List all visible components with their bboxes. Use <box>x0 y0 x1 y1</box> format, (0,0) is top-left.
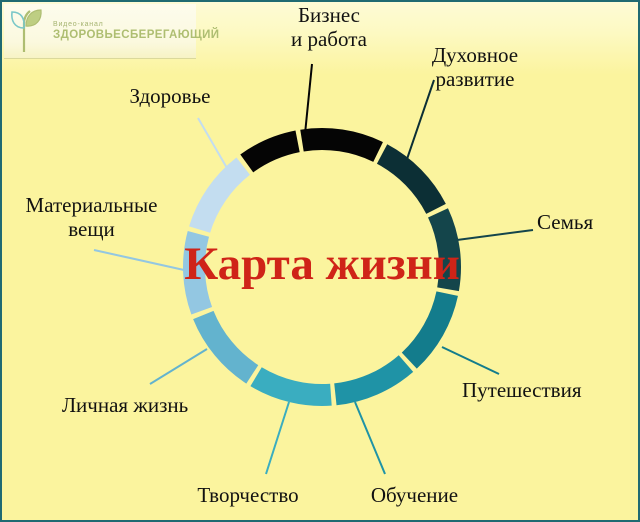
ring-segment-health[interactable] <box>189 157 250 232</box>
label-spiritual-development: Духовное развитие <box>400 44 550 91</box>
label-health: Здоровье <box>95 85 245 109</box>
leader-line-creative <box>266 402 289 474</box>
ring-segment-learning[interactable] <box>334 355 413 405</box>
label-learning: Обучение <box>337 484 492 508</box>
label-personal-life: Личная жизнь <box>30 394 220 418</box>
leaf-sprout-icon <box>10 8 50 54</box>
leader-line-personal <box>150 349 207 384</box>
leader-line-spiritual <box>406 80 434 162</box>
logo-title: ЗДОРОВЬЕСБЕРЕГАЮЩИЙ <box>53 30 219 42</box>
ring-segment-personal[interactable] <box>193 311 258 384</box>
label-travel: Путешествия <box>462 379 640 403</box>
ring-segment-creative[interactable] <box>250 367 331 406</box>
channel-logo: Видео-канал ЗДОРОВЬЕСБЕРЕГАЮЩИЙ <box>4 4 196 59</box>
ring-segment-business[interactable] <box>300 128 383 162</box>
ring-segment-spiritual[interactable] <box>377 144 446 214</box>
leader-line-learning <box>355 402 385 474</box>
ring-segment-travel[interactable] <box>402 291 458 368</box>
label-material-things: Материальные вещи <box>4 194 179 241</box>
label-business: Бизнес и работа <box>249 4 409 51</box>
label-family: Семья <box>537 211 640 235</box>
label-creativity: Творчество <box>168 484 328 508</box>
ring-segment-business2[interactable] <box>240 131 299 173</box>
leader-line-business <box>305 64 312 134</box>
slide-frame: Карта жизни Бизнес и работа Духовное раз… <box>0 0 640 522</box>
logo-subtitle: Видео-канал <box>53 21 219 28</box>
center-title: Карта жизни <box>122 237 522 291</box>
leader-line-travel <box>442 347 499 374</box>
